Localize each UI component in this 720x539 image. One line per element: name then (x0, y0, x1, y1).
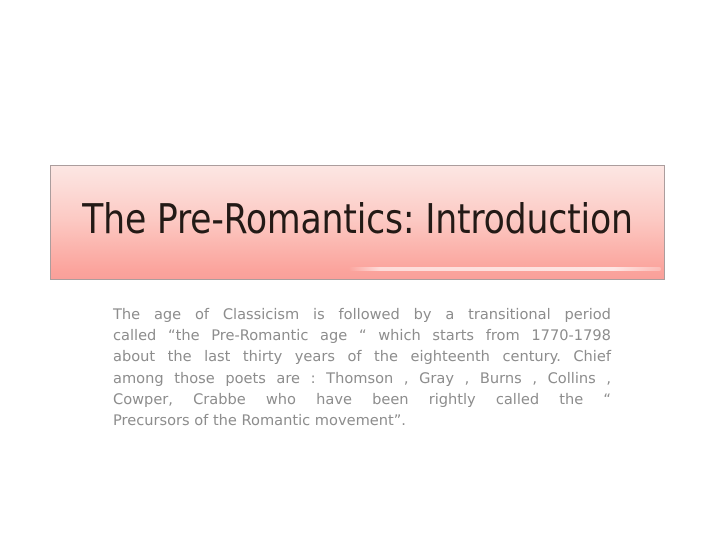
body-word: starts (432, 325, 474, 346)
body-word: Gray (419, 368, 454, 389)
body-word: thirty (243, 346, 282, 367)
body-word: called (496, 389, 539, 410)
body-line: aboutthelastthirtyyearsoftheeighteenthce… (113, 346, 611, 367)
body-word: called (113, 325, 156, 346)
body-word: which (378, 325, 421, 346)
body-word: Chief (573, 346, 611, 367)
body-word: , (404, 368, 409, 389)
body-word: Burns (480, 368, 522, 389)
body-word: transitional (468, 304, 551, 325)
body-line: Precursors of the Romantic movement”. (113, 410, 611, 431)
body-word: Classicism (223, 304, 299, 325)
page-title: The Pre-Romantics: Introduction (69, 195, 645, 243)
body-word: 1770-1798 (531, 325, 611, 346)
body-word: , (532, 368, 537, 389)
body-word: century. (502, 346, 560, 367)
body-word: are (276, 368, 300, 389)
body-word: among (113, 368, 164, 389)
body-word: Crabbe (193, 389, 246, 410)
body-word: The (113, 304, 140, 325)
body-word: “ (359, 325, 367, 346)
body-word: age (320, 325, 347, 346)
body-word: age (154, 304, 181, 325)
body-word: Thomson (326, 368, 393, 389)
body-word: is (313, 304, 325, 325)
body-word: poets (225, 368, 266, 389)
body-word: been (372, 389, 408, 410)
body-word: the (374, 346, 398, 367)
title-highlight-streak (349, 267, 661, 271)
body-word: , (606, 368, 611, 389)
body-word: rightly (429, 389, 476, 410)
body-word: Cowper, (113, 389, 173, 410)
body-word: followed (339, 304, 400, 325)
body-word: “ (603, 389, 611, 410)
body-word: “the (168, 325, 200, 346)
body-word: have (316, 389, 352, 410)
body-word: period (564, 304, 611, 325)
body-word: Collins (548, 368, 596, 389)
body-word: about (113, 346, 155, 367)
body-word: , (465, 368, 470, 389)
body-word: : (311, 368, 316, 389)
body-word: of (347, 346, 361, 367)
body-word: last (204, 346, 230, 367)
body-line: called“thePre-Romanticage“whichstartsfro… (113, 325, 611, 346)
body-word: Pre-Romantic (211, 325, 308, 346)
body-line: Cowper,Crabbewhohavebeenrightlycalledthe… (113, 389, 611, 410)
body-word: years (295, 346, 335, 367)
body-line: amongthosepoetsare:Thomson,Gray,Burns,Co… (113, 368, 611, 389)
body-word: from (486, 325, 520, 346)
body-paragraph: TheageofClassicismisfollowedbyatransitio… (113, 304, 611, 431)
body-word: the (559, 389, 583, 410)
body-word: who (266, 389, 296, 410)
body-word: by (414, 304, 432, 325)
body-word: those (174, 368, 214, 389)
body-line: TheageofClassicismisfollowedbyatransitio… (113, 304, 611, 325)
slide-canvas: The Pre-Romantics: Introduction Theageof… (0, 0, 720, 539)
body-word: a (445, 304, 454, 325)
body-word: eighteenth (410, 346, 489, 367)
body-word: the (168, 346, 192, 367)
title-banner: The Pre-Romantics: Introduction (50, 165, 665, 280)
body-word: of (195, 304, 209, 325)
